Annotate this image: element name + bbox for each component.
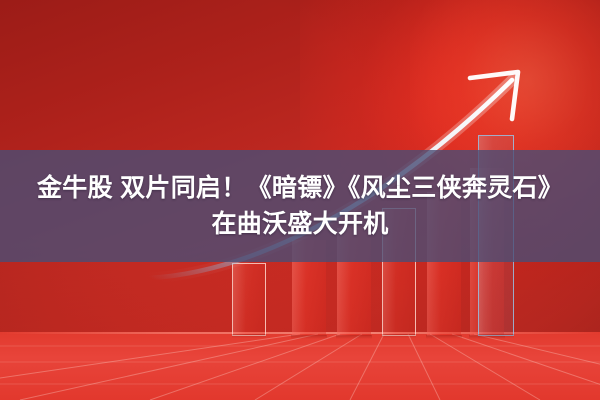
banner-image: 金牛股 双片同启！《暗镖》《风尘三侠奔灵石》 在曲沃盛大开机	[0, 0, 600, 400]
headline-line-2: 在曲沃盛大开机	[211, 206, 388, 243]
headline-band: 金牛股 双片同启！《暗镖》《风尘三侠奔灵石》 在曲沃盛大开机	[0, 150, 600, 262]
headline-line-1: 金牛股 双片同启！《暗镖》《风尘三侠奔灵石》	[37, 170, 563, 207]
